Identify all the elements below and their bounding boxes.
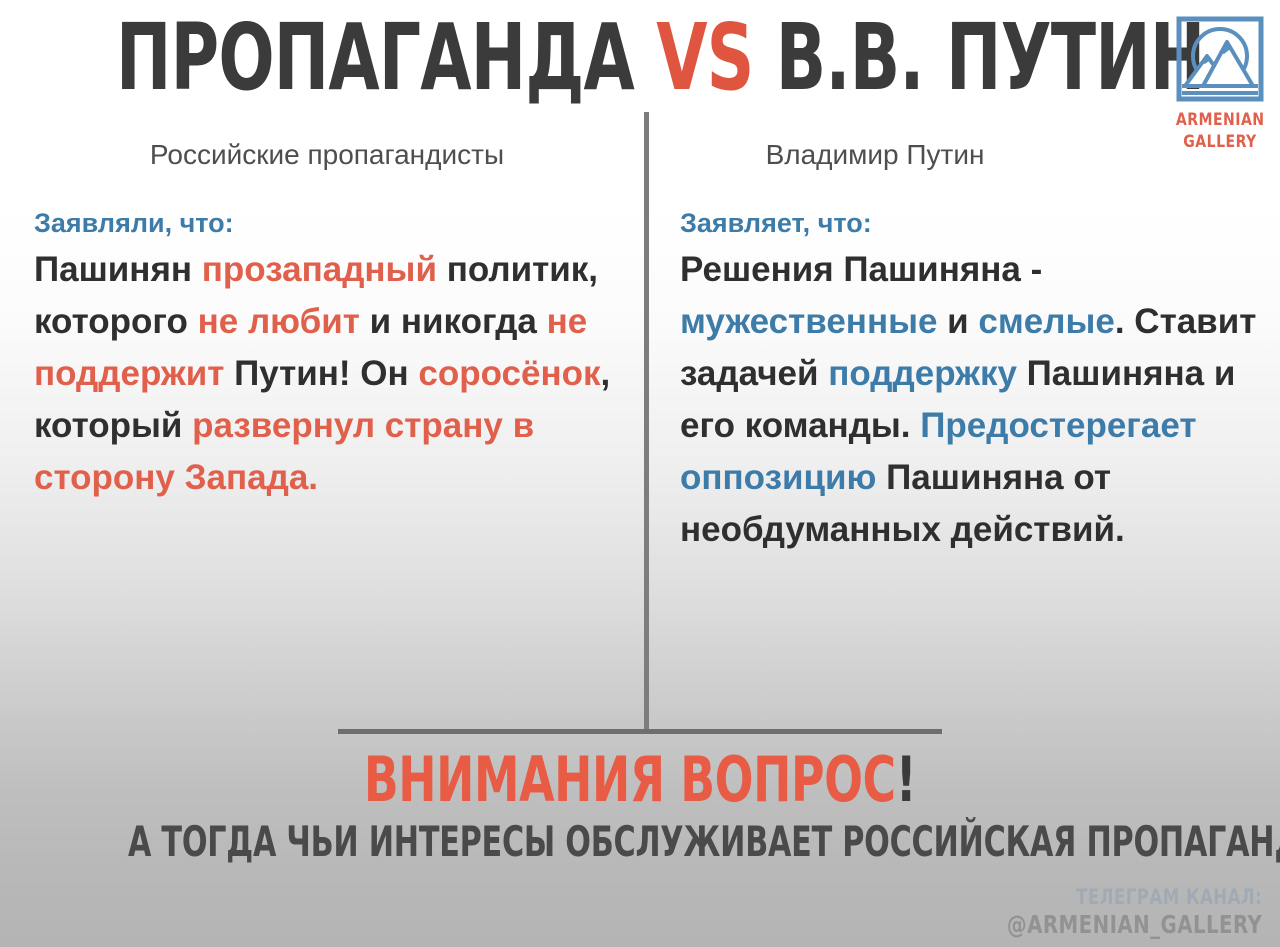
horizontal-divider [338, 729, 942, 734]
infographic-poster: ПРОПАГАНДА VS В.В. ПУТИН ARMENIAN GALLER… [0, 0, 1280, 947]
vertical-divider [644, 112, 649, 734]
column-putin: Владимир Путин Заявляет, что: Решения Па… [660, 138, 1270, 556]
text-segment-3: смелые [978, 302, 1114, 341]
text-segment-6: Путин! Он [224, 354, 418, 393]
footer-attention-text: ВНИМАНИЯ ВОПРОС [364, 743, 896, 816]
title-part-propaganda: ПРОПАГАНДА [116, 4, 634, 111]
poster-footer: ВНИМАНИЯ ВОПРОС! А ТОГДА ЧЬИ ИНТЕРЕСЫ ОБ… [0, 746, 1280, 866]
text-segment-0: Решения Пашиняна - [680, 250, 1042, 289]
ararat-mountain-icon [1175, 16, 1265, 108]
watermark-channel-handle: @ARMENIAN_GALLERY [1007, 911, 1262, 938]
text-segment-0: Пашинян [34, 250, 202, 289]
telegram-watermark: ТЕЛЕГРАМ КАНАЛ: @ARMENIAN_GALLERY [972, 884, 1262, 938]
footer-question-line: А ТОГДА ЧЬИ ИНТЕРЕСЫ ОБСЛУЖИВАЕТ РОССИЙС… [128, 818, 1152, 866]
watermark-channel-label: ТЕЛЕГРАМ КАНАЛ: [1007, 884, 1262, 911]
text-segment-1: прозападный [202, 250, 437, 289]
poster-title-row: ПРОПАГАНДА VS В.В. ПУТИН [0, 6, 1280, 116]
text-segment-7: соросёнок [418, 354, 600, 393]
column-body-right: Решения Пашиняна - мужественные и смелые… [660, 244, 1270, 556]
text-segment-4: и никогда [360, 302, 547, 341]
column-propagandists: Российские пропагандисты Заявляли, что: … [14, 138, 634, 504]
footer-attention-line: ВНИМАНИЯ ВОПРОС! [115, 746, 1165, 814]
text-segment-3: не любит [198, 302, 360, 341]
text-segment-1: мужественные [680, 302, 937, 341]
logo-word-armenian: ARMENIAN [1176, 111, 1264, 130]
text-segment-5: поддержку [828, 354, 1017, 393]
footer-attention-mark: ! [896, 743, 916, 816]
text-segment-2: и [937, 302, 978, 341]
column-lead-right: Заявляет, что: [660, 206, 1270, 240]
column-heading-right: Владимир Путин [660, 138, 1270, 172]
column-lead-left: Заявляли, что: [14, 206, 634, 240]
poster-title: ПРОПАГАНДА VS В.В. ПУТИН [116, 6, 1044, 110]
title-part-putin: В.В. ПУТИН [776, 4, 1205, 111]
title-vs-label: VS [656, 4, 753, 111]
column-heading-left: Российские пропагандисты [14, 138, 634, 172]
column-body-left: Пашинян прозападный политик, которого не… [14, 244, 634, 504]
